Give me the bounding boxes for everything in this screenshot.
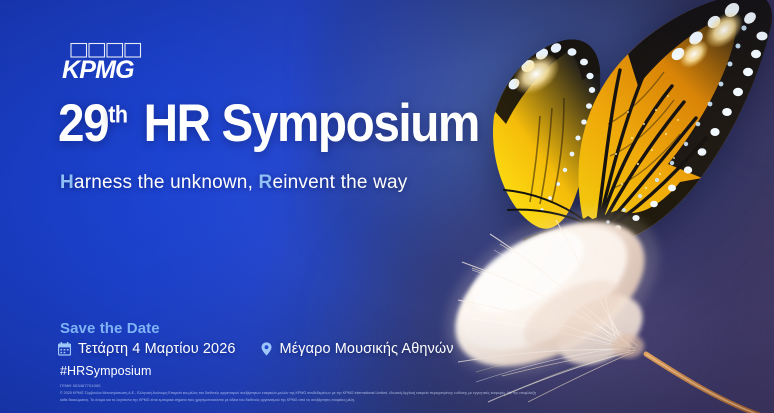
tagline: Harness the unknown, Reinvent the way — [60, 172, 408, 194]
tagline-part-1: arness the unknown, — [74, 172, 259, 193]
location-pin-icon — [260, 342, 273, 356]
tagline-cap-h: H — [60, 172, 74, 193]
page-title: 29th HR Symposium — [58, 97, 479, 150]
event-date-text: Τετάρτη 4 Μαρτίου 2026 — [78, 341, 236, 357]
event-venue-text: Μέγαρο Μουσικής Αθηνών — [280, 341, 454, 357]
event-venue: Μέγαρο Μουσικής Αθηνών — [260, 341, 454, 357]
tagline-part-2: einvent the way — [272, 172, 407, 193]
title-number: 29 — [58, 94, 108, 153]
kpmg-logo[interactable]: KPMG — [62, 42, 150, 82]
event-meta: Τετάρτη 4 Μαρτίου 2026 Μέγαρο Μουσικής Α… — [58, 341, 454, 357]
legal-disclaimer: ΓΕΜΗ 003467701000 © 2025 KPMG Σύμβουλοι … — [60, 383, 700, 403]
banner-content: KPMG 29th HR Symposium Harness the unkno… — [0, 0, 774, 413]
tagline-cap-r: R — [259, 172, 273, 193]
calendar-icon — [58, 342, 71, 356]
event-hashtag[interactable]: #HRSymposium — [60, 364, 152, 378]
legal-line-2: κάθε δικαιώματος. Το όνομα και το λογότυ… — [60, 397, 700, 403]
legal-line-0: ΓΕΜΗ 003467701000 — [60, 383, 700, 390]
title-rest: HR Symposium — [144, 94, 479, 153]
hr-symposium-banner: KPMG 29th HR Symposium Harness the unkno… — [0, 0, 774, 413]
title-ordinal: th — [108, 101, 127, 128]
kpmg-wordmark: KPMG — [62, 56, 134, 82]
save-the-date-heading: Save the Date — [60, 320, 160, 337]
event-date: Τετάρτη 4 Μαρτίου 2026 — [58, 341, 236, 357]
